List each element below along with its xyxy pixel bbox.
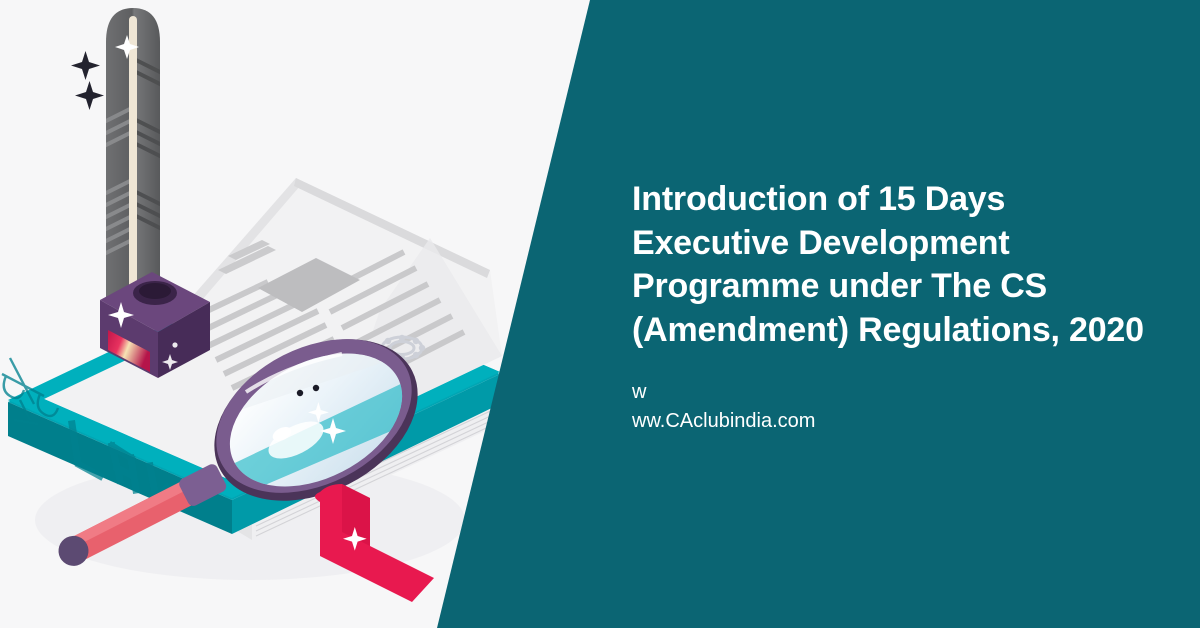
site-url-line-1: w [632, 381, 646, 403]
site-url-line-2: ww.CAclubindia.com [632, 410, 815, 432]
page-title: Introduction of 15 Days Executive Develo… [632, 178, 1162, 352]
banner-text-block: Introduction of 15 Days Executive Develo… [632, 178, 1162, 436]
promo-banner: Introduction of 15 Days Executive Develo… [0, 0, 1200, 628]
site-url: w ww.CAclubindia.com [632, 352, 672, 436]
